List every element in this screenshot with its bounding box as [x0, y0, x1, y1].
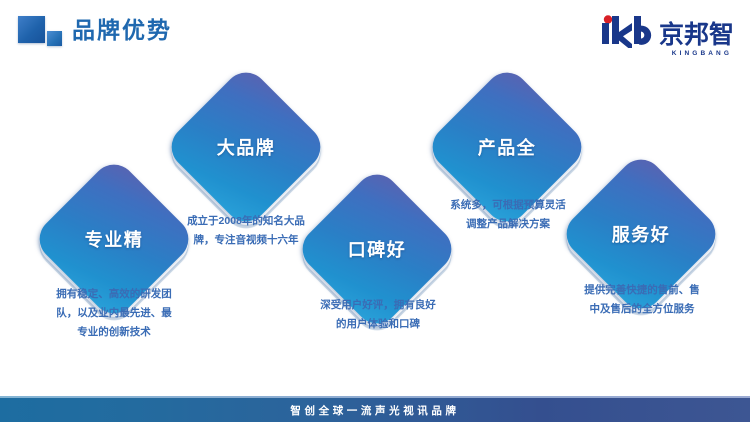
- feature-diamond-1[interactable]: 专业精: [55, 180, 173, 298]
- feature-diamond-4[interactable]: 产品全: [448, 88, 566, 206]
- footer-slogan: 智创全球一流声光视讯品牌: [290, 403, 459, 418]
- feature-caption-1: 拥有稳定、高效的研发团队，以及业内最先进、最专业的创新技术: [30, 285, 198, 342]
- feature-label-3: 口碑好: [318, 190, 436, 308]
- feature-label-4: 产品全: [448, 88, 566, 206]
- feature-caption-3: 深受用户好评，拥有良好的用户体验和口碑: [294, 296, 462, 334]
- logo-mark-icon: [598, 14, 656, 48]
- feature-caption-5: 提供完善快捷的售前、售中及售后的全方位服务: [558, 281, 726, 319]
- logo-chinese: 京邦智: [659, 22, 734, 48]
- brand-logo: 京邦智 KINGBANG: [598, 12, 734, 48]
- page-title: 品牌优势: [72, 15, 172, 45]
- slide-footer: 智创全球一流声光视讯品牌: [0, 398, 750, 422]
- feature-diamond-3[interactable]: 口碑好: [318, 190, 436, 308]
- decor-square-small-icon: [47, 31, 62, 46]
- logo-english: KINGBANG: [672, 50, 732, 57]
- feature-label-2: 大品牌: [187, 88, 305, 206]
- feature-diamond-2[interactable]: 大品牌: [187, 88, 305, 206]
- decor-square-large-icon: [18, 16, 45, 43]
- slide-canvas: 品牌优势 京邦智 KINGBANG 专业精 拥有稳定、高效的研发团队，以及业内最…: [0, 0, 750, 422]
- feature-label-5: 服务好: [582, 175, 700, 293]
- feature-diamond-5[interactable]: 服务好: [582, 175, 700, 293]
- feature-label-1: 专业精: [55, 180, 173, 298]
